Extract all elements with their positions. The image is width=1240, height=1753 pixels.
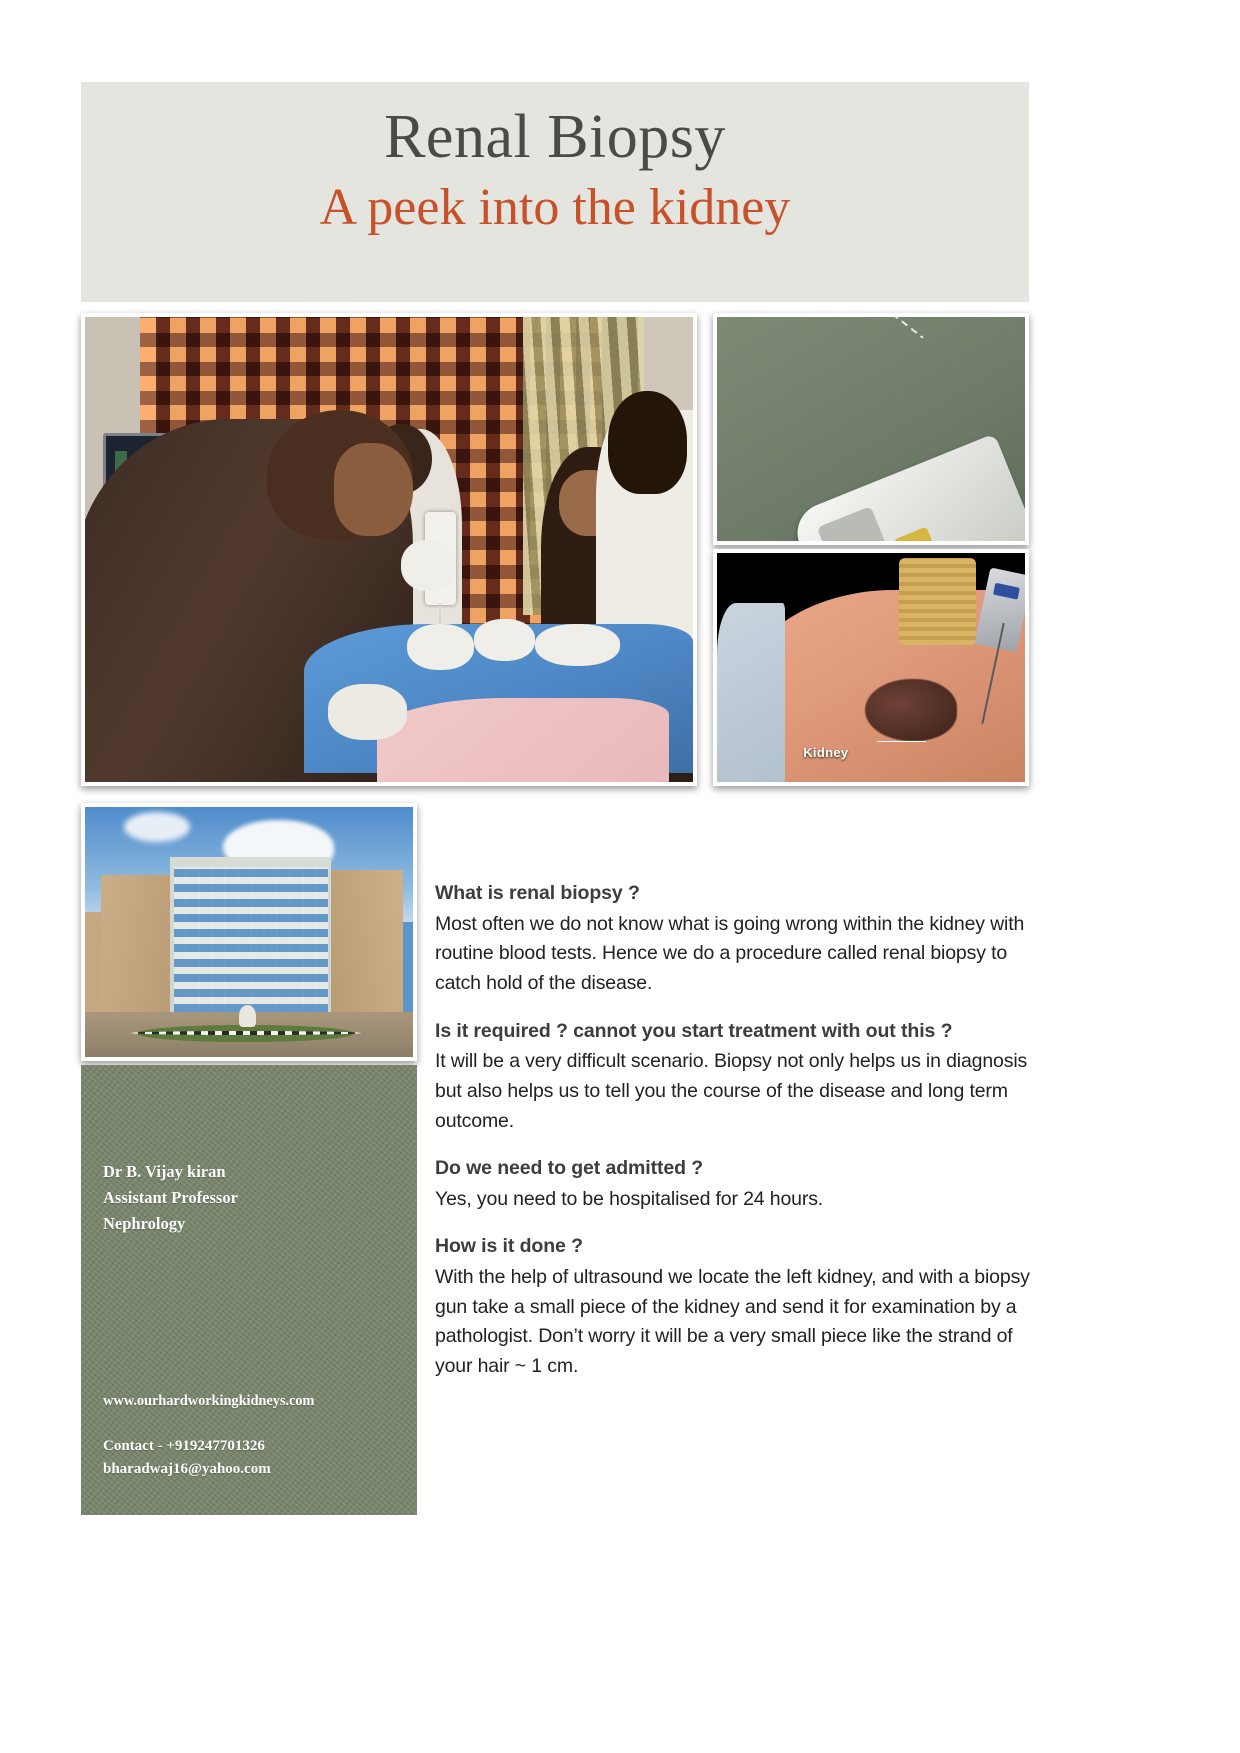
- doctor-name: Dr B. Vijay kiran: [103, 1159, 238, 1185]
- procedure-scene: [85, 317, 693, 782]
- faq-question: Is it required ? cannot you start treatm…: [435, 1018, 1040, 1046]
- hospital-building-photo: [81, 803, 417, 1061]
- hospital-scene: [85, 807, 413, 1057]
- phone-number[interactable]: Contact - +919247701326: [103, 1435, 314, 1458]
- biopsy-needle: [826, 313, 924, 339]
- kidney-label: Kidney: [803, 745, 848, 760]
- renal-biopsy-procedure-photo: [81, 313, 697, 786]
- faq-question: How is it done ?: [435, 1233, 1040, 1261]
- doctor-department: Nephrology: [103, 1211, 238, 1237]
- contact-details: www.ourhardworkingkidneys.com Contact - …: [103, 1390, 314, 1481]
- gloved-hand: [535, 624, 620, 666]
- faq-answer: With the help of ultrasound we locate th…: [435, 1263, 1040, 1382]
- author-credits: Dr B. Vijay kiran Assistant Professor Ne…: [103, 1159, 238, 1237]
- website-link[interactable]: www.ourhardworkingkidneys.com: [103, 1390, 314, 1412]
- gloved-hand: [407, 624, 474, 671]
- doctor-designation: Assistant Professor: [103, 1185, 238, 1211]
- biopsy-gun-trigger: [893, 526, 939, 545]
- faq-answer: Yes, you need to be hospitalised for 24 …: [435, 1185, 1040, 1215]
- faq-item: Is it required ? cannot you start treatm…: [435, 1018, 1040, 1137]
- biopsy-gun-notch: [816, 506, 890, 545]
- faq-item: How is it done ? With the help of ultras…: [435, 1233, 1040, 1381]
- patient-sheet: [377, 698, 669, 782]
- faq-answer: It will be a very difficult scenario. Bi…: [435, 1047, 1040, 1136]
- poster-header: Renal Biopsy A peek into the kidney: [81, 82, 1029, 302]
- kidney-label-leader-line: [877, 741, 926, 742]
- gloved-hand: [474, 619, 535, 661]
- page-subtitle: A peek into the kidney: [81, 179, 1029, 237]
- faq-section: What is renal biopsy ? Most often we do …: [435, 880, 1040, 1382]
- faq-item: Do we need to get admitted ? Yes, you ne…: [435, 1155, 1040, 1214]
- ultrasound-probe-icon: [899, 558, 976, 645]
- biopsy-gun-body: [788, 433, 1029, 545]
- kidney-shape: [865, 679, 957, 741]
- faq-answer: Most often we do not know what is going …: [435, 910, 1040, 999]
- faq-question: What is renal biopsy ?: [435, 880, 1040, 908]
- contact-panel: Dr B. Vijay kiran Assistant Professor Ne…: [81, 1065, 417, 1515]
- kidney-diagram-scene: Kidney: [717, 553, 1025, 782]
- faq-question: Do we need to get admitted ?: [435, 1155, 1040, 1183]
- page-title: Renal Biopsy: [81, 104, 1029, 171]
- nurse-foreground-head: [608, 391, 687, 493]
- gloved-hand: [401, 540, 456, 591]
- faq-item: What is renal biopsy ? Most often we do …: [435, 880, 1040, 999]
- diagram-drape: [717, 603, 785, 786]
- doctor-gloved-hand: [328, 684, 407, 740]
- biopsy-gun-scene: [717, 317, 1025, 541]
- renal-biopsy-poster: Renal Biopsy A peek into the kidney: [0, 0, 1240, 1753]
- email-address[interactable]: bharadwaj16@yahoo.com: [103, 1458, 314, 1481]
- doctor-face: [334, 443, 413, 536]
- hospital-kerb: [131, 1031, 361, 1035]
- biopsy-gun-photo: [713, 313, 1029, 545]
- kidney-biopsy-diagram: Kidney: [713, 549, 1029, 786]
- cloud: [124, 812, 190, 842]
- hospital-glass-facade: [174, 867, 328, 1027]
- hospital-lamp-post: [239, 1005, 255, 1028]
